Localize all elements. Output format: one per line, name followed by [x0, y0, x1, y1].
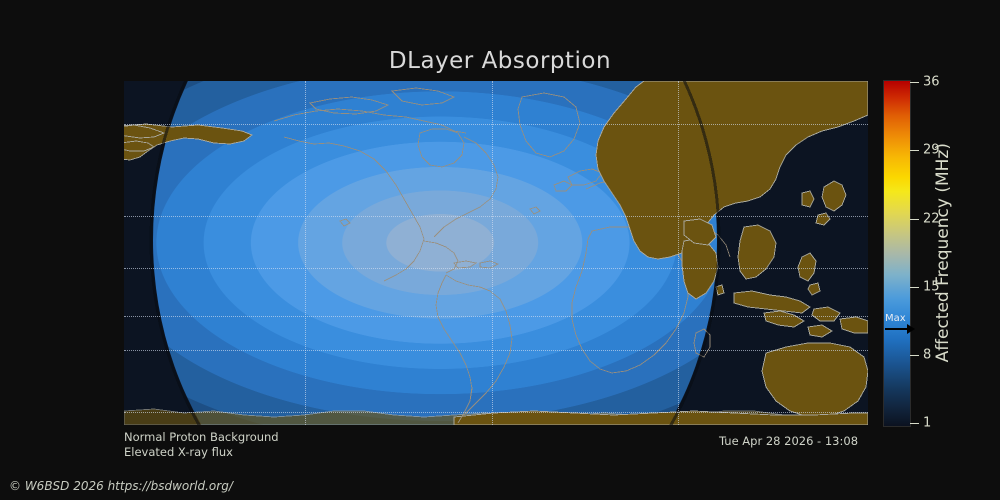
copyright-notice: © W6BSD 2026 https://bsdworld.org/: [9, 479, 233, 493]
colorbar[interactable]: 36 29 22 15 8 1 Max: [883, 80, 909, 425]
figure-canvas: DLayer Absorption: [0, 0, 1000, 500]
colorbar-axis-title-text: Affected Frequency (MHz): [933, 143, 953, 362]
page-title: DLayer Absorption: [0, 48, 1000, 74]
colorbar-axis-title: Affected Frequency (MHz): [930, 80, 956, 425]
colorbar-tick: [910, 82, 919, 83]
colorbar-tick: [910, 423, 919, 424]
world-map[interactable]: [124, 81, 868, 425]
max-marker-arrow-icon: [884, 324, 924, 334]
note-proton-background: Normal Proton Background: [124, 430, 279, 444]
note-xray-flux: Elevated X-ray flux: [124, 445, 233, 459]
colorbar-tick: [910, 150, 919, 151]
colorbar-tick: [910, 219, 919, 220]
map-render: [124, 81, 868, 425]
colorbar-tick: [910, 355, 919, 356]
colorbar-gradient: [883, 80, 911, 427]
timestamp: Tue Apr 28 2026 - 13:08: [719, 434, 858, 448]
colorbar-tick: [910, 287, 919, 288]
max-marker: Max: [884, 314, 924, 334]
max-marker-label: Max: [884, 314, 924, 324]
